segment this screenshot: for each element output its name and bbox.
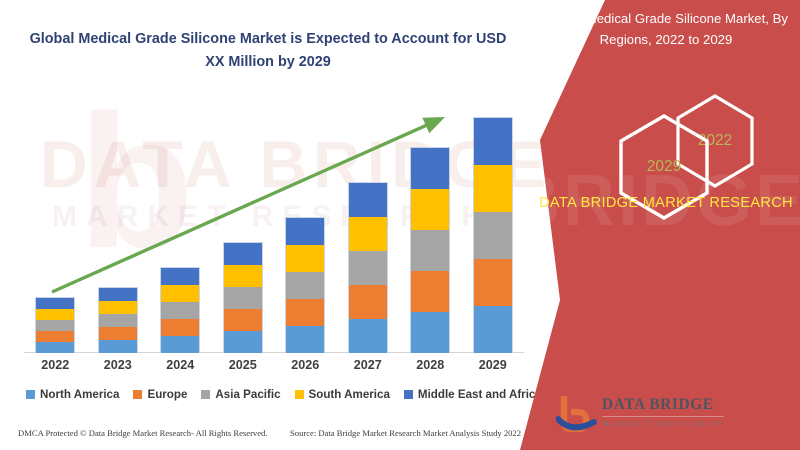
bar-segment (224, 265, 262, 287)
red-panel-content: BRIDGE Global Medical Grade Silicone Mar… (520, 0, 800, 450)
bar-segment (474, 306, 512, 353)
hexagon-start-year: 2029 (615, 112, 713, 222)
bar-segment (474, 212, 512, 259)
bar-segment (224, 331, 262, 353)
x-tick-2024: 2024 (149, 358, 212, 372)
logo-divider (602, 416, 724, 417)
bar-segment (99, 288, 137, 301)
bar-group-2025 (212, 100, 275, 353)
bar-group-2023 (87, 100, 150, 353)
bar-segment (99, 314, 137, 327)
bar-group-2027 (337, 100, 400, 353)
bar-segment (99, 327, 137, 340)
legend-swatch-icon (295, 390, 304, 399)
bar-segment (36, 320, 74, 331)
legend-item[interactable]: South America (295, 388, 390, 401)
bar-segment (36, 342, 74, 353)
x-tick-2028: 2028 (399, 358, 462, 372)
bar-segment (36, 309, 74, 320)
bar-group-2024 (149, 100, 212, 353)
hexagon-icon (672, 92, 758, 190)
bar-segment (349, 183, 387, 217)
legend-label: Asia Pacific (215, 388, 280, 401)
x-tick-2026: 2026 (274, 358, 337, 372)
legend-label: Middle East and Africa (418, 388, 542, 401)
legend-item[interactable]: Europe (133, 388, 187, 401)
bar-segment (474, 259, 512, 306)
bar-segment (286, 272, 324, 299)
bar-group-2029 (462, 100, 525, 353)
bar-segment (286, 245, 324, 272)
bar-segment (286, 326, 324, 353)
x-tick-2027: 2027 (337, 358, 400, 372)
legend-swatch-icon (26, 390, 35, 399)
bar-segment (349, 251, 387, 285)
bar-segment (474, 118, 512, 165)
stacked-bar-plot (24, 100, 524, 353)
bar-segment (224, 309, 262, 331)
red-panel-title: Global Medical Grade Silicone Market, By… (534, 8, 798, 50)
bar-segment (286, 218, 324, 245)
legend-item[interactable]: North America (26, 388, 119, 401)
legend-item[interactable]: Asia Pacific (201, 388, 280, 401)
legend-label: South America (309, 388, 390, 401)
bar-segment (349, 319, 387, 353)
x-tick-2025: 2025 (212, 358, 275, 372)
brand-name: DATA BRIDGE MARKET RESEARCH (534, 192, 798, 216)
dbmr-logo-mark-icon (556, 392, 600, 436)
bar-segment (474, 165, 512, 212)
dbmr-logo: DATA BRIDGE MARKET RESEARCH (556, 392, 756, 440)
x-tick-2029: 2029 (462, 358, 525, 372)
stacked-bar (223, 242, 263, 353)
logo-sub-text: MARKET RESEARCH (602, 419, 725, 428)
hexagon-end-year-label: 2022 (672, 92, 758, 190)
bar-segment (411, 230, 449, 271)
bar-segment (99, 340, 137, 353)
hexagon-icon (615, 112, 713, 222)
bar-segment (349, 285, 387, 319)
stacked-bar (410, 147, 450, 353)
bar-segment (411, 148, 449, 189)
footer-source: Source: Data Bridge Market Research Mark… (290, 428, 521, 438)
legend-item[interactable]: Middle East and Africa (404, 388, 542, 401)
stacked-bar (98, 287, 138, 353)
bar-group-2028 (399, 100, 462, 353)
page-title: Global Medical Grade Silicone Market is … (18, 28, 518, 75)
footer-dmca: DMCA Protected © Data Bridge Market Rese… (18, 428, 268, 438)
bar-segment (411, 312, 449, 353)
bar-segment (411, 189, 449, 230)
bar-segment (224, 287, 262, 309)
dbmr-logo-text: DATA BRIDGE MARKET RESEARCH (602, 396, 725, 428)
bar-segment (161, 336, 199, 353)
stacked-bar (35, 297, 75, 353)
legend-swatch-icon (133, 390, 142, 399)
x-axis-tick-labels: 20222023202420252026202720282029 (24, 358, 524, 380)
bar-segment (36, 331, 74, 342)
hexagon-start-year-label: 2029 (615, 112, 713, 222)
legend-label: Europe (147, 388, 187, 401)
bar-segment (99, 301, 137, 314)
legend-swatch-icon (201, 390, 210, 399)
bar-segment (224, 243, 262, 265)
x-tick-2022: 2022 (24, 358, 87, 372)
stacked-bar (348, 182, 388, 353)
bar-segment (161, 268, 199, 285)
stacked-bar (285, 217, 325, 353)
x-tick-2023: 2023 (87, 358, 150, 372)
chart-panel: Global Medical Grade Silicone Market is … (0, 0, 560, 450)
legend-label: North America (40, 388, 119, 401)
bar-segment (161, 319, 199, 336)
stacked-bar (160, 267, 200, 353)
bar-segment (349, 217, 387, 251)
bar-segment (286, 299, 324, 326)
bar-segment (161, 302, 199, 319)
hexagon-end-year: 2022 (672, 92, 758, 190)
legend-swatch-icon (404, 390, 413, 399)
bar-segment (36, 298, 74, 309)
bar-segment (161, 285, 199, 302)
bar-group-2022 (24, 100, 87, 353)
stacked-bar (473, 117, 513, 353)
bar-segment (411, 271, 449, 312)
bar-group-2026 (274, 100, 337, 353)
chart-legend: North AmericaEuropeAsia PacificSouth Ame… (26, 388, 536, 401)
logo-main-text: DATA BRIDGE (602, 396, 725, 414)
